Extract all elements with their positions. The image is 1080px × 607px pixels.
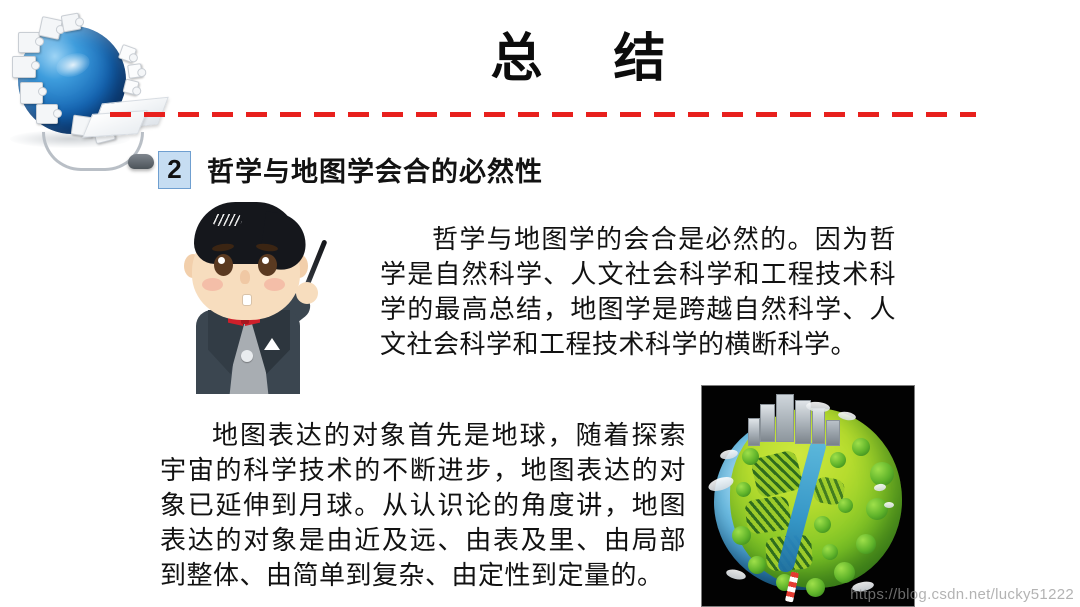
presenter-suit-button	[241, 350, 253, 362]
earth-tree	[830, 452, 846, 468]
presenter-eye-left	[214, 254, 233, 276]
earth-tree	[856, 534, 876, 554]
earth-tree	[838, 498, 853, 513]
section-heading-label: 哲学与地图学会合的必然性	[207, 150, 543, 189]
presenter-illustration	[168, 198, 353, 393]
puzzle-piece	[61, 13, 82, 33]
earth-tree	[742, 448, 759, 465]
puzzle-piece	[38, 16, 63, 40]
puzzle-piece	[12, 56, 36, 78]
dashed-divider	[110, 112, 976, 117]
puzzle-piece	[20, 82, 43, 104]
earth-tree	[822, 544, 838, 560]
presenter-mouth	[242, 294, 252, 306]
watermark-text: https://blog.csdn.net/lucky51222	[850, 586, 1074, 603]
puzzle-piece	[18, 32, 40, 53]
section-heading: 2 哲学与地图学会合的必然性	[158, 150, 543, 189]
earth-tree	[732, 526, 751, 545]
earth-tree	[866, 498, 888, 520]
computer-mouse-icon	[128, 154, 154, 169]
slide-canvas: 总 结 2 哲学与地图学会合的必然性 哲学与地图学的会合	[0, 0, 1080, 607]
earth-tree	[814, 516, 831, 533]
presenter-nose	[240, 270, 250, 284]
puzzle-piece	[36, 104, 58, 124]
presenter-hair-shine	[212, 214, 242, 226]
earth-building	[826, 420, 840, 446]
earth-tree	[736, 482, 751, 497]
body-paragraph-1: 哲学与地图学的会合是必然的。因为哲学是自然科学、人文社会科学和工程技术科学的最高…	[380, 222, 896, 362]
earth-building	[748, 418, 760, 446]
earth-tree	[748, 556, 766, 574]
earth-tree	[834, 562, 855, 583]
earth-building	[776, 394, 794, 442]
puzzle-globe-icon	[2, 12, 152, 172]
globe-highlight	[53, 49, 92, 80]
page-title: 总 结	[190, 33, 980, 85]
presenter-cheek-left	[202, 278, 223, 291]
puzzle-piece	[123, 79, 140, 96]
section-number-badge: 2	[158, 151, 191, 189]
earth-building	[760, 404, 775, 442]
body-paragraph-2: 地图表达的对象首先是地球，随着探索宇宙的科学技术的不断进步，地图表达的对象已延伸…	[160, 418, 686, 593]
presenter-eye-right	[258, 254, 277, 276]
presenter-cheek-right	[264, 278, 285, 291]
earth-tree	[852, 438, 870, 456]
earth-farmland	[744, 495, 792, 535]
earth-building	[812, 408, 825, 444]
puzzle-piece	[127, 63, 143, 79]
earth-image	[701, 385, 915, 607]
earth-cloud	[725, 568, 747, 582]
earth-tree	[806, 578, 825, 597]
presenter-hand	[296, 282, 318, 304]
earth-cloud	[884, 502, 894, 508]
earth-tree	[870, 462, 894, 486]
